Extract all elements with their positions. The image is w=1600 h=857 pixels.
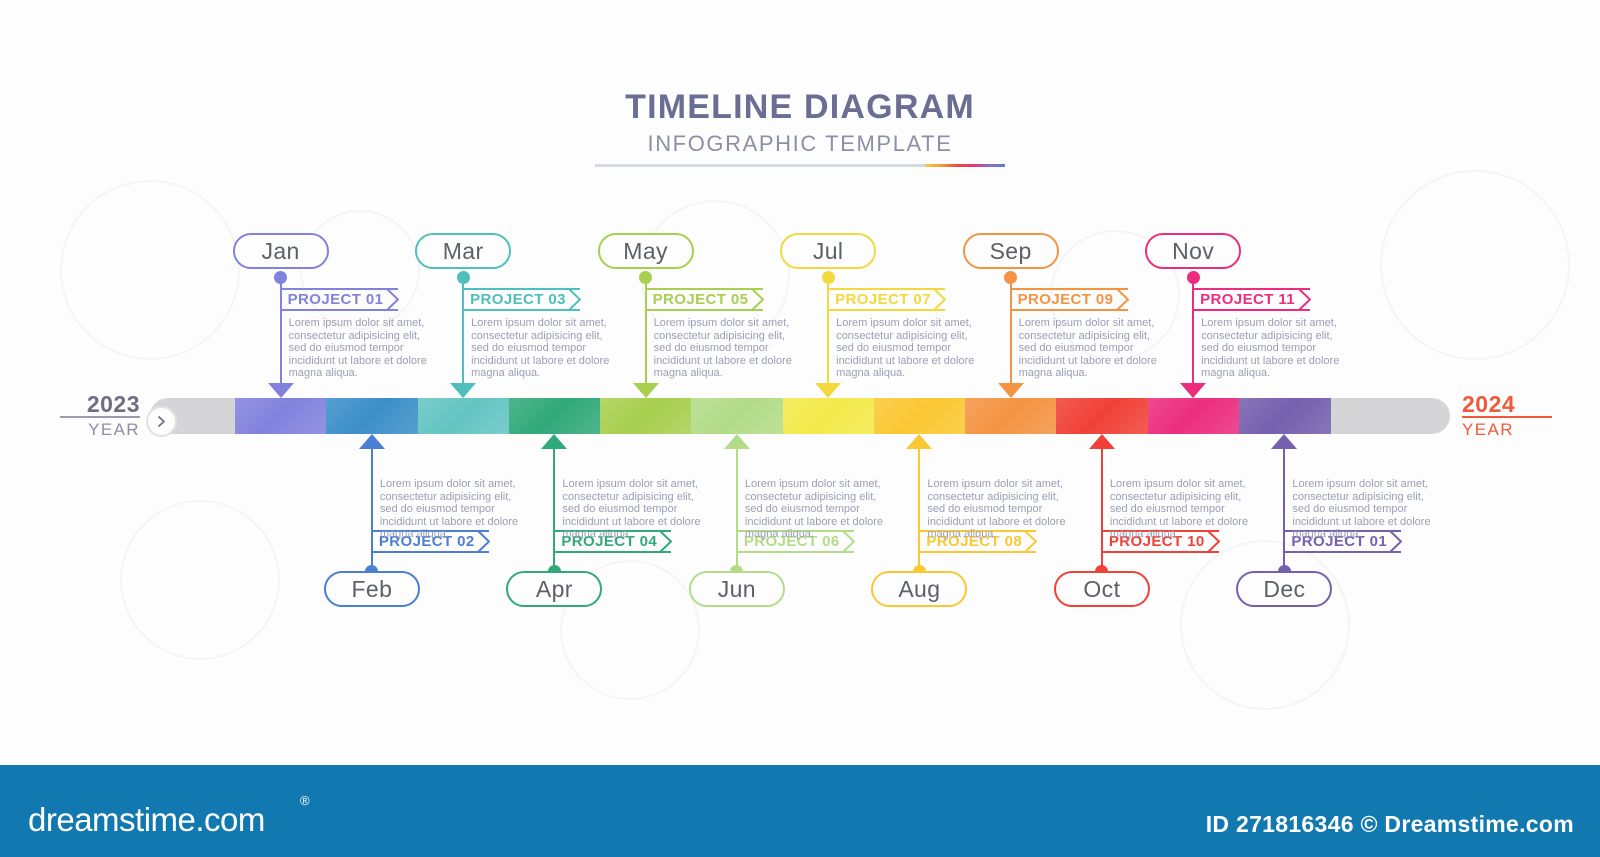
marker-arrow-down [998,383,1024,398]
marker-arrow-down [268,383,294,398]
ribbon-notch-icon [932,288,946,311]
timeline-segment [965,398,1057,434]
marker-arrow-up [359,434,385,449]
header-rule-gradient [925,164,1005,167]
project-ribbon[interactable]: PROJECT 11 [1192,288,1310,311]
month-label: Feb [351,576,392,603]
timeline-segment [1148,398,1240,434]
timeline-segment [874,398,966,434]
connector-dot [457,271,470,284]
project-label: PROJECT 07 [827,291,931,308]
month-label: Jun [718,576,756,603]
connector-dot [1187,271,1200,284]
marker-arrow-up [906,434,932,449]
month-pill[interactable]: Oct [1054,571,1150,607]
item-description: Lorem ipsum dolor sit amet, consectetur … [836,317,986,380]
project-ribbon[interactable]: PROJECT 03 [462,288,580,311]
month-pill[interactable]: May [598,233,694,269]
timeline-segment [1239,398,1331,434]
registered-mark-icon: ® [300,793,310,808]
page-title: TIMELINE DIAGRAM [0,88,1600,127]
month-label: Jul [813,238,844,265]
project-ribbon[interactable]: PROJECT 09 [1010,288,1128,311]
header-rule-gray [595,164,925,167]
item-description: Lorem ipsum dolor sit amet, consectetur … [1110,478,1260,541]
month-pill[interactable]: Feb [324,571,420,607]
month-label: Sep [990,238,1032,265]
month-label: Oct [1083,576,1120,603]
watermark-ring [1180,540,1350,710]
month-pill[interactable]: Mar [415,233,511,269]
item-description: Lorem ipsum dolor sit amet, consectetur … [654,317,804,380]
project-label: PROJECT 05 [645,291,749,308]
infographic-canvas: TIMELINE DIAGRAM INFOGRAPHIC TEMPLATE 20… [0,0,1600,765]
item-description: Lorem ipsum dolor sit amet, consectetur … [1292,478,1442,541]
timeline-segment [1056,398,1148,434]
project-label: PROJECT 11 [1192,291,1295,308]
project-ribbon[interactable]: PROJECT 07 [827,288,945,311]
month-label: Apr [536,576,573,603]
connector-dot [822,271,835,284]
timeline-track [150,398,1450,434]
timeline-segment [418,398,510,434]
project-label: PROJECT 03 [462,291,566,308]
timeline-segment [600,398,692,434]
timeline-segment [326,398,418,434]
month-label: Mar [443,238,484,265]
marker-arrow-down [815,383,841,398]
marker-arrow-up [1089,434,1115,449]
project-ribbon[interactable]: PROJECT 05 [645,288,763,311]
month-label: May [623,238,668,265]
marker-arrow-up [724,434,750,449]
image-id-label: ID 271816346 © Dreamstime.com [1206,811,1574,838]
item-description: Lorem ipsum dolor sit amet, consectetur … [927,478,1077,541]
footer-bar: dreamstime.com ® ID 271816346 © Dreamsti… [0,765,1600,857]
header-rule [595,164,1005,168]
ribbon-notch-icon [1115,288,1129,311]
marker-arrow-down [633,383,659,398]
month-pill[interactable]: Nov [1145,233,1241,269]
month-label: Dec [1263,576,1305,603]
project-label: PROJECT 09 [1010,291,1114,308]
timeline-segment [691,398,783,434]
watermark-ring [120,500,280,660]
item-description: Lorem ipsum dolor sit amet, consectetur … [745,478,895,541]
month-label: Jan [261,238,299,265]
timeline-segment [235,398,327,434]
marker-arrow-up [1271,434,1297,449]
month-pill[interactable]: Jan [233,233,329,269]
project-label: PROJECT 01 [280,291,384,308]
month-pill[interactable]: Apr [506,571,602,607]
ribbon-notch-icon [1297,288,1311,311]
watermark-ring [1380,170,1570,360]
month-pill[interactable]: Sep [963,233,1059,269]
ribbon-notch-icon [750,288,764,311]
month-label: Aug [898,576,940,603]
project-ribbon[interactable]: PROJECT 01 [280,288,398,311]
item-description: Lorem ipsum dolor sit amet, consectetur … [289,317,439,380]
chevron-right-icon [146,406,177,437]
connector-dot [1004,271,1017,284]
connector-dot [274,271,287,284]
watermark-ring [300,210,420,330]
watermark-ring [60,180,240,360]
item-description: Lorem ipsum dolor sit amet, consectetur … [562,478,712,541]
item-description: Lorem ipsum dolor sit amet, consectetur … [1019,317,1169,380]
page-subtitle: INFOGRAPHIC TEMPLATE [0,131,1600,157]
item-description: Lorem ipsum dolor sit amet, consectetur … [380,478,530,541]
timeline-segment [509,398,601,434]
marker-arrow-down [1180,383,1206,398]
timeline-segment [783,398,875,434]
dreamstime-logo: dreamstime.com [28,801,265,839]
ribbon-notch-icon [567,288,581,311]
item-description: Lorem ipsum dolor sit amet, consectetur … [1201,317,1351,380]
marker-arrow-down [450,383,476,398]
month-pill[interactable]: Jun [689,571,785,607]
header: TIMELINE DIAGRAM INFOGRAPHIC TEMPLATE [0,88,1600,168]
ribbon-notch-icon [385,288,399,311]
item-description: Lorem ipsum dolor sit amet, consectetur … [471,317,621,380]
month-pill[interactable]: Aug [871,571,967,607]
connector-dot [639,271,652,284]
marker-arrow-up [541,434,567,449]
timeline-bar [0,398,1600,436]
month-pill[interactable]: Dec [1236,571,1332,607]
month-label: Nov [1172,238,1214,265]
month-pill[interactable]: Jul [780,233,876,269]
